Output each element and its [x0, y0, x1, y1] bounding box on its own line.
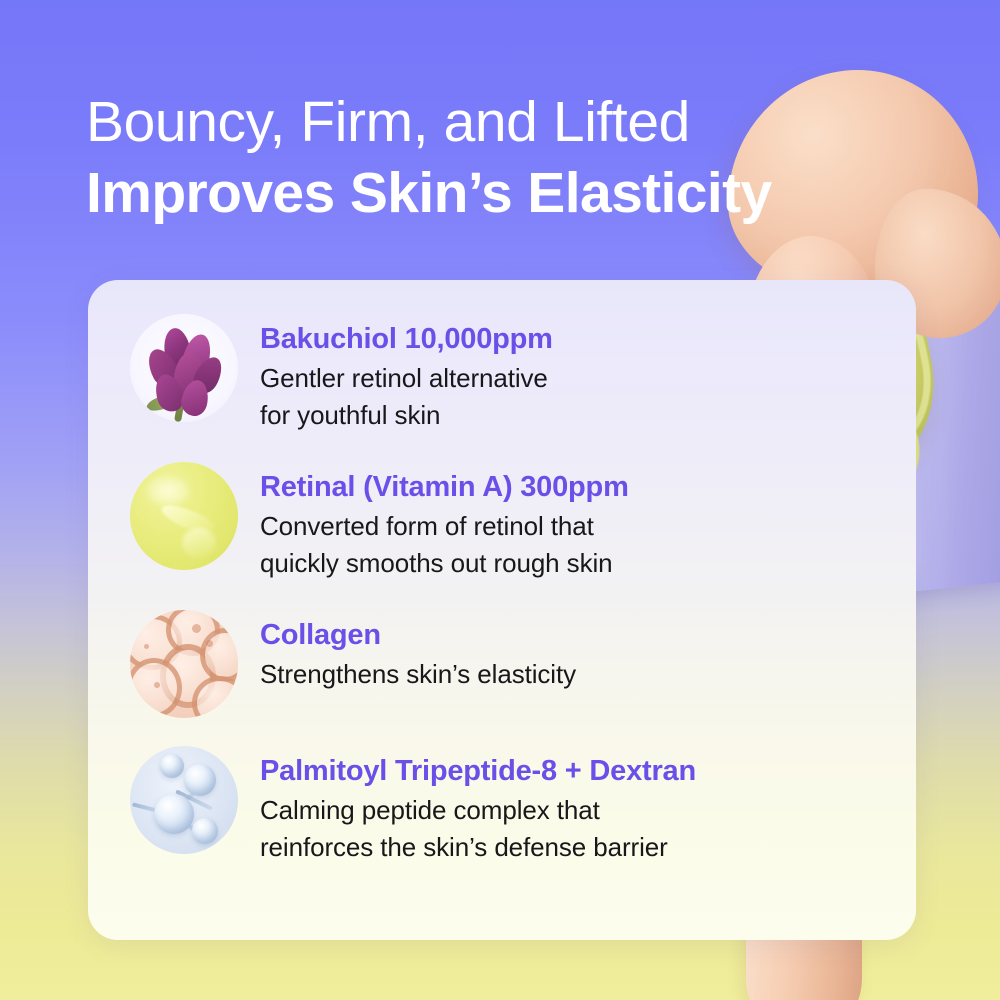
list-item: Collagen Strengthens skin’s elasticity [88, 610, 916, 718]
cream-ridge-shape [182, 528, 216, 558]
collagen-cell-shape [130, 658, 182, 718]
collagen-bubble-dot-shape [154, 682, 160, 688]
list-item: Bakuchiol 10,000ppm Gentler retinol alte… [88, 314, 916, 434]
ingredient-list: Bakuchiol 10,000ppm Gentler retinol alte… [88, 280, 916, 866]
ingredient-title: Palmitoyl Tripeptide-8 + Dextran [260, 752, 696, 790]
cream-highlight-shape [146, 476, 190, 506]
molecule-sphere-shape [154, 794, 194, 834]
collagen-bubble-dot-shape [192, 624, 201, 633]
ingredient-title: Bakuchiol 10,000ppm [260, 320, 553, 358]
ingredient-description: Gentler retinol alternative for youthful… [260, 360, 553, 434]
ingredient-text-block: Palmitoyl Tripeptide-8 + Dextran Calming… [260, 746, 696, 866]
list-item: Palmitoyl Tripeptide-8 + Dextran Calming… [88, 746, 916, 866]
molecule-sphere-shape [192, 818, 218, 844]
ingredient-card: Bakuchiol 10,000ppm Gentler retinol alte… [88, 280, 916, 940]
ingredient-description: Converted form of retinol that quickly s… [260, 508, 629, 582]
molecule-sphere-shape [160, 754, 184, 778]
ingredient-text-block: Bakuchiol 10,000ppm Gentler retinol alte… [260, 314, 553, 434]
ingredient-description: Strengthens skin’s elasticity [260, 656, 576, 693]
molecule-sphere-shape [184, 764, 216, 796]
ingredient-text-block: Retinal (Vitamin A) 300ppm Converted for… [260, 462, 629, 582]
ingredient-description: Calming peptide complex that reinforces … [260, 792, 696, 866]
cream-swatch-icon [130, 462, 238, 570]
collagen-bubbles-icon [130, 610, 238, 718]
collagen-bubble-dot-shape [206, 640, 213, 647]
peptide-molecule-icon [130, 746, 238, 854]
flower-icon [130, 314, 238, 422]
ingredient-title: Retinal (Vitamin A) 300ppm [260, 468, 629, 506]
ingredient-title: Collagen [260, 616, 576, 654]
collagen-bubble-dot-shape [144, 644, 149, 649]
list-item: Retinal (Vitamin A) 300ppm Converted for… [88, 462, 916, 582]
infographic-stage: Bouncy, Firm, and Lifted Improves Skin’s… [0, 0, 1000, 1000]
ingredient-text-block: Collagen Strengthens skin’s elasticity [260, 610, 576, 693]
